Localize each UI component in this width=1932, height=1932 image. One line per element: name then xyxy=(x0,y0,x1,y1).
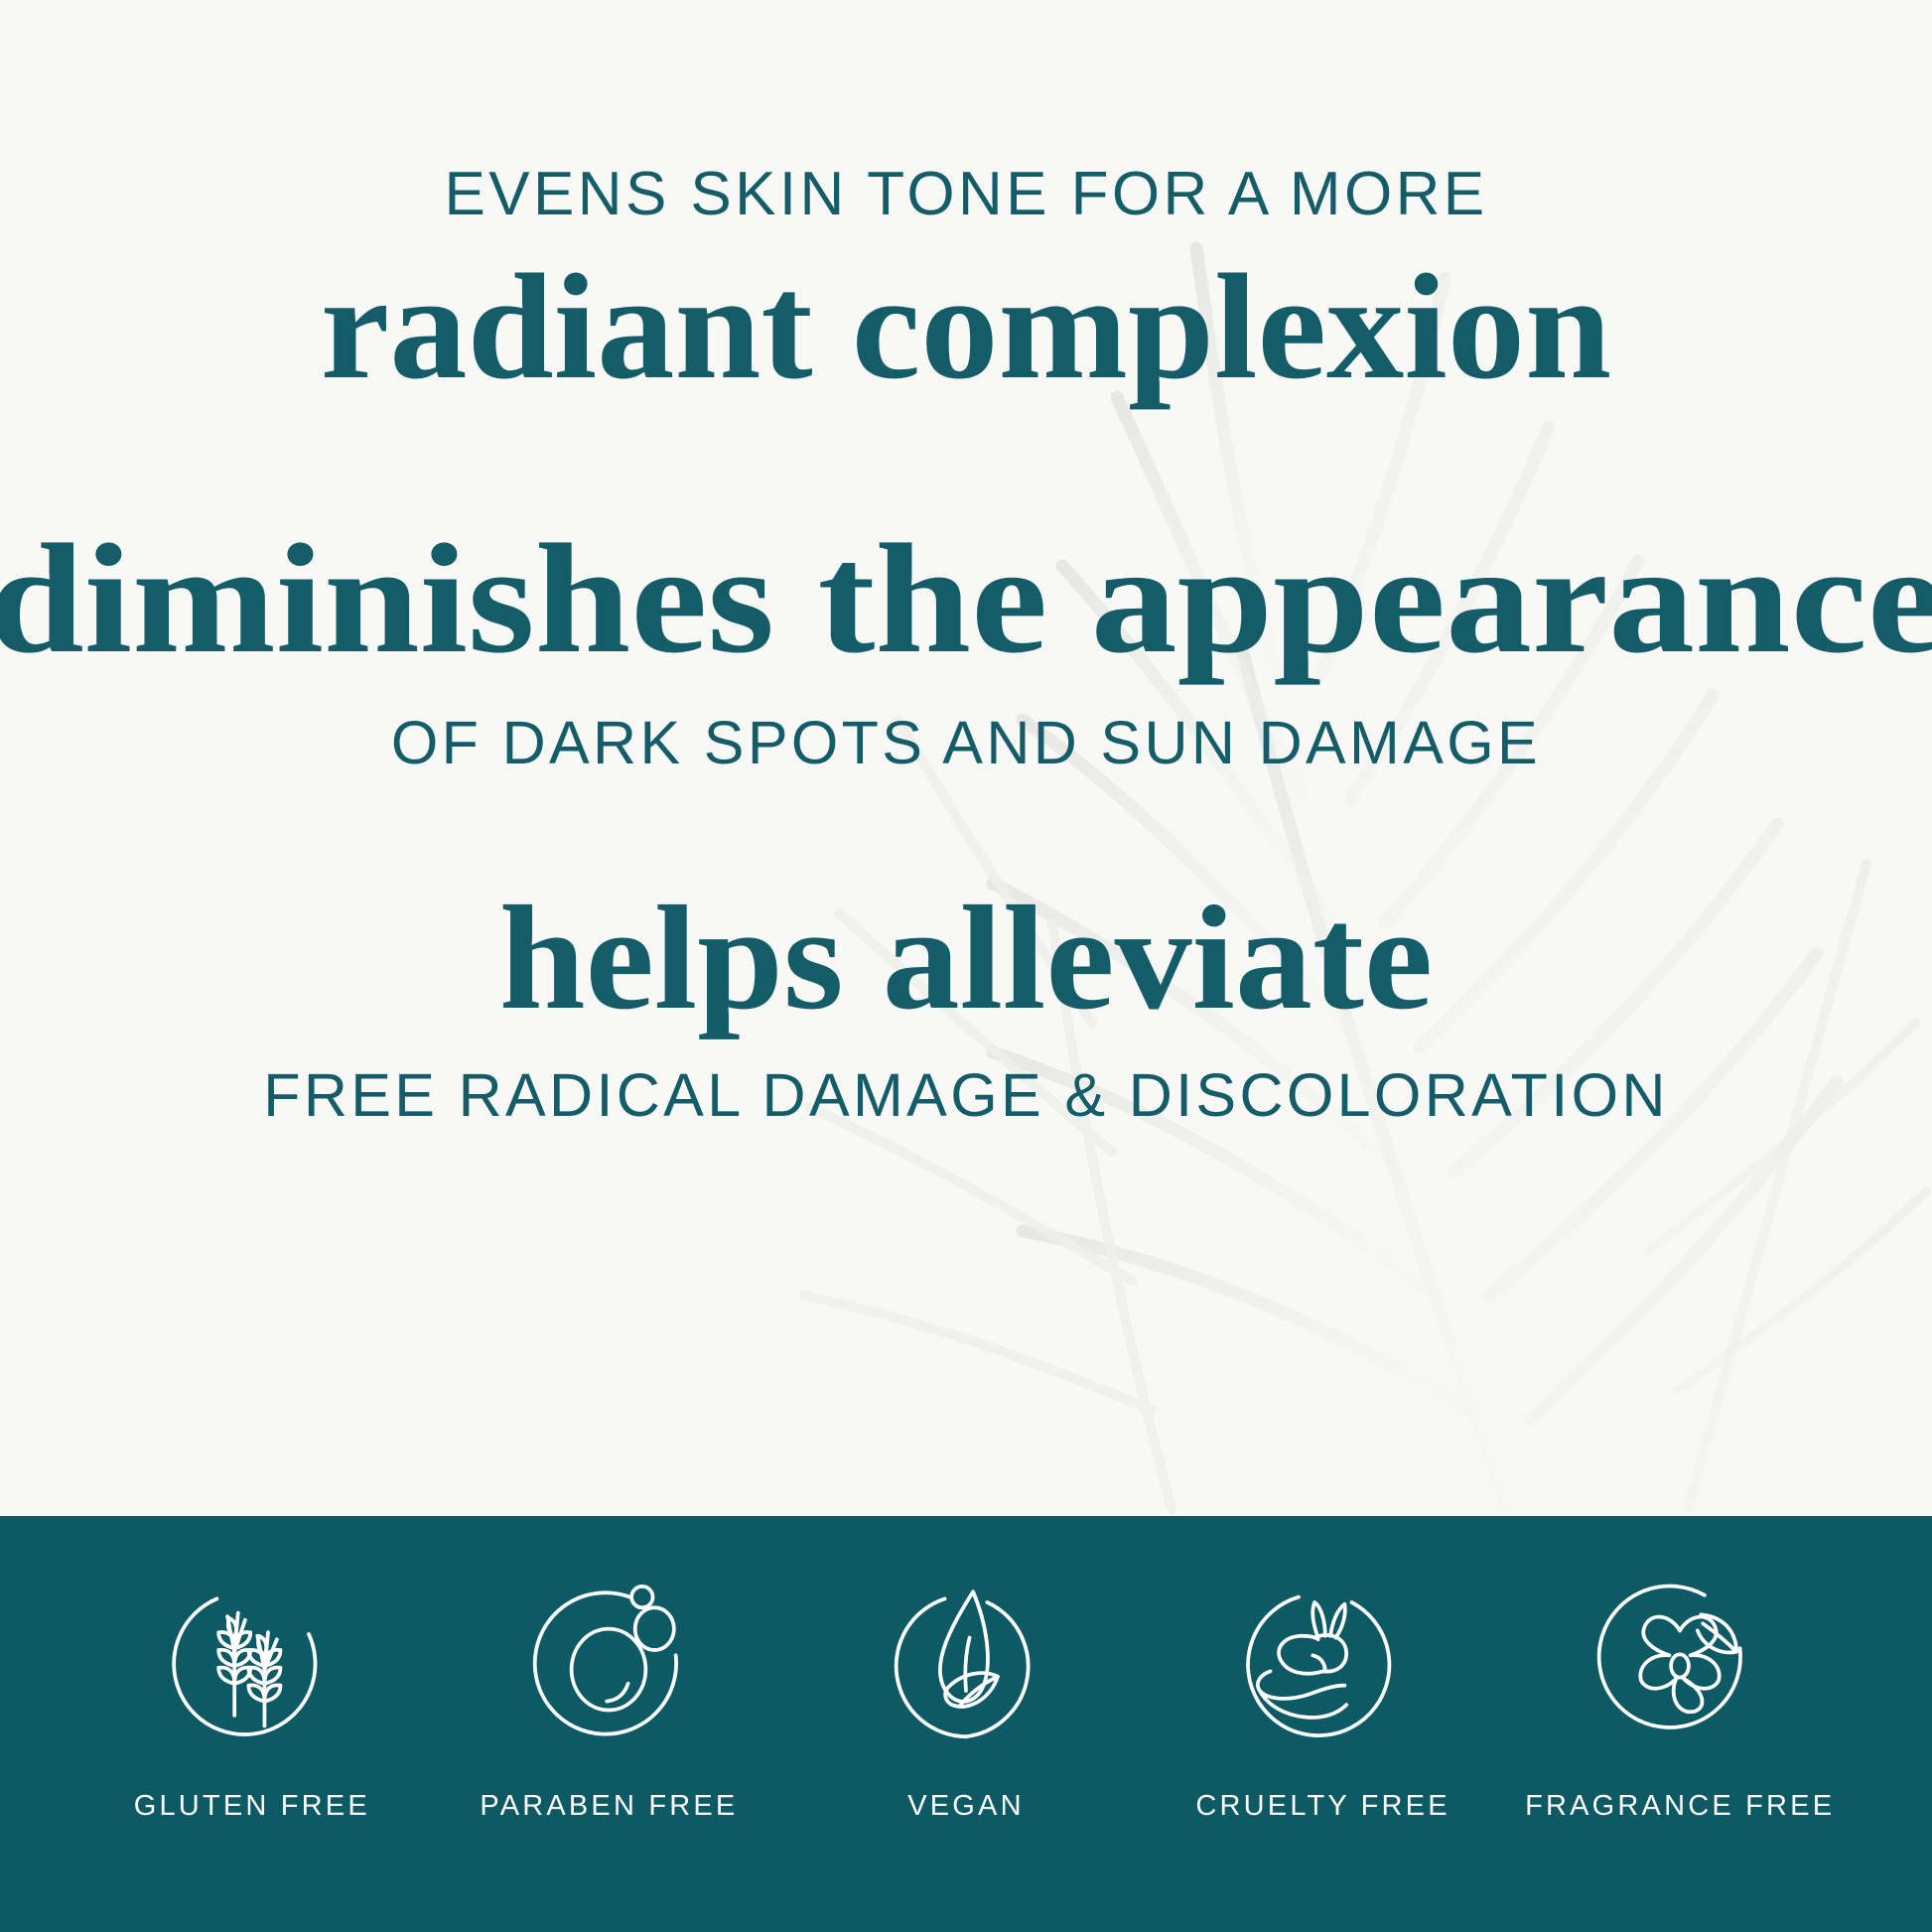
benefit-1-headline: radiant complexion xyxy=(0,251,1932,402)
product-benefits-graphic: EVENS SKIN TONE FOR A MORE radiant compl… xyxy=(0,0,1932,1932)
badge-paraben-free: PARABEN FREE xyxy=(431,1578,788,1823)
badge-vegan-label: VEGAN xyxy=(907,1790,1024,1823)
benefits-text-area: EVENS SKIN TONE FOR A MORE radiant compl… xyxy=(0,0,1932,1516)
bubbles-icon xyxy=(520,1578,697,1754)
benefit-2-headline: diminishes the appearance xyxy=(0,521,1932,678)
rabbit-in-hand-icon xyxy=(1235,1578,1412,1754)
wheat-icon xyxy=(164,1578,341,1754)
badge-paraben-free-label: PARABEN FREE xyxy=(480,1790,738,1823)
benefit-block-3: helps alleviate FREE RADICAL DAMAGE & DI… xyxy=(0,884,1932,1130)
badge-gluten-free: GLUTEN FREE xyxy=(73,1578,431,1823)
badge-vegan: VEGAN xyxy=(787,1578,1145,1823)
benefit-1-eyebrow: EVENS SKIN TONE FOR A MORE xyxy=(0,159,1932,229)
flower-icon xyxy=(1591,1578,1768,1754)
badge-cruelty-free: CRUELTY FREE xyxy=(1145,1578,1502,1823)
badge-fragrance-free: FRAGRANCE FREE xyxy=(1501,1578,1859,1823)
benefit-3-eyebrow: FREE RADICAL DAMAGE & DISCOLORATION xyxy=(0,1060,1932,1130)
badge-fragrance-free-label: FRAGRANCE FREE xyxy=(1525,1790,1835,1823)
benefit-2-eyebrow: OF DARK SPOTS AND SUN DAMAGE xyxy=(0,708,1932,777)
benefit-block-2: diminishes the appearance OF DARK SPOTS … xyxy=(0,521,1932,777)
certification-badge-bar: GLUTEN FREE PARABEN FREE xyxy=(0,1516,1932,1932)
leaf-icon xyxy=(878,1578,1054,1754)
benefit-3-headline: helps alleviate xyxy=(0,884,1932,1033)
badge-gluten-free-label: GLUTEN FREE xyxy=(134,1790,370,1823)
benefit-block-1: EVENS SKIN TONE FOR A MORE radiant compl… xyxy=(0,159,1932,402)
badge-cruelty-free-label: CRUELTY FREE xyxy=(1195,1790,1449,1823)
